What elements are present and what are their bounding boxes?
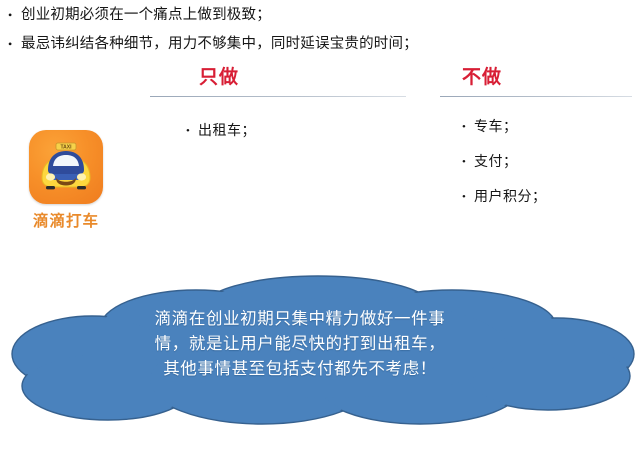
bullet-dot-icon: • bbox=[8, 35, 21, 53]
cloud-text: 滴滴在创业初期只集中精力做好一件事 情，就是让用户能尽快的打到出租车， 其他事情… bbox=[100, 306, 500, 381]
bullet-text: 创业初期必须在一个痛点上做到极致； bbox=[21, 6, 628, 26]
bullet-dot-icon: • bbox=[462, 189, 474, 206]
column-heading: 只做 bbox=[150, 68, 406, 96]
bullet-text: 最忌讳纠结各种细节，用力不够集中，同时延误宝贵的时间； bbox=[21, 35, 628, 55]
cloud-text-line: 情，就是让用户能尽快的打到出租车， bbox=[100, 331, 500, 356]
bullet-dot-icon: • bbox=[462, 119, 474, 136]
list-item: • 出租车； bbox=[186, 123, 406, 141]
bullet-dot-icon: • bbox=[462, 154, 474, 171]
intro-bullet-list: • 创业初期必须在一个痛点上做到极致； • 最忌讳纠结各种细节，用力不够集中，同… bbox=[8, 6, 628, 63]
list-item-label: 支付； bbox=[474, 154, 518, 172]
column-item-list: • 出租车； bbox=[150, 123, 406, 141]
cloud-text-line: 其他事情甚至包括支付都先不考虑！ bbox=[100, 356, 500, 381]
list-item-label: 用户积分； bbox=[474, 189, 547, 207]
cloud-text-line: 滴滴在创业初期只集中精力做好一件事 bbox=[100, 306, 500, 331]
list-item: • 专车； bbox=[462, 119, 632, 137]
list-item-label: 出租车； bbox=[198, 123, 256, 141]
bullet-dot-icon: • bbox=[186, 123, 198, 140]
column-item-list: • 专车； • 支付； • 用户积分； bbox=[440, 119, 632, 208]
column-divider bbox=[150, 96, 406, 97]
list-item: • 用户积分； bbox=[462, 189, 632, 207]
list-item: • 创业初期必须在一个痛点上做到极致； bbox=[8, 6, 628, 26]
list-item-label: 专车； bbox=[474, 119, 518, 137]
column-dont: 不做 • 专车； • 支付； • 用户积分； bbox=[440, 68, 632, 225]
list-item: • 最忌讳纠结各种细节，用力不够集中，同时延误宝贵的时间； bbox=[8, 35, 628, 55]
column-divider bbox=[440, 96, 632, 97]
cloud-callout: 滴滴在创业初期只集中精力做好一件事 情，就是让用户能尽快的打到出租车， 其他事情… bbox=[0, 258, 635, 443]
column-heading: 不做 bbox=[440, 68, 632, 96]
list-item: • 支付； bbox=[462, 154, 632, 172]
column-do: 只做 • 出租车； bbox=[150, 68, 406, 158]
bullet-dot-icon: • bbox=[8, 6, 21, 24]
comparison-columns: 只做 • 出租车； 不做 • 专车； • 支付； • 用户积分； bbox=[0, 68, 635, 243]
